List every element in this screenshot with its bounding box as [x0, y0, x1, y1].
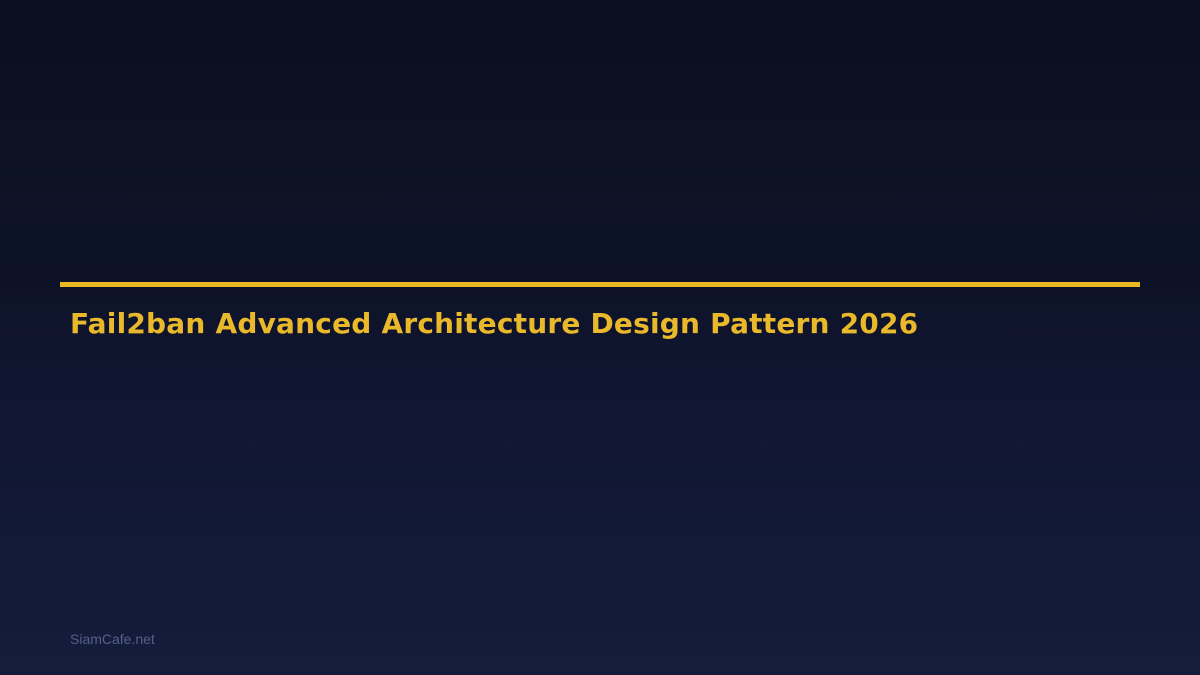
title-slide: Fail2ban Advanced Architecture Design Pa…	[0, 0, 1200, 675]
accent-bar	[60, 282, 1140, 287]
page-title: Fail2ban Advanced Architecture Design Pa…	[70, 307, 918, 341]
footer-watermark: SiamCafe.net	[70, 631, 155, 648]
title-block: Fail2ban Advanced Architecture Design Pa…	[60, 282, 1140, 287]
